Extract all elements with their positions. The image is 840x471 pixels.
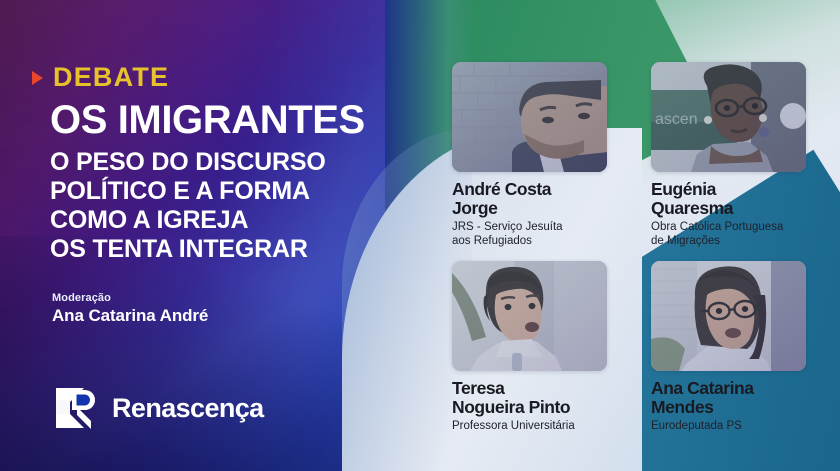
speaker-name-line: Eugénia — [651, 180, 806, 199]
photo-eugenia-quaresma: ascen — [651, 62, 806, 172]
speaker-role-line: Obra Católica Portuguesa — [651, 221, 806, 235]
speaker-role: JRS - Serviço Jesuíta aos Refugiados — [452, 221, 607, 248]
speaker-card: ascen — [651, 62, 806, 248]
photo-andre-costa-jorge — [452, 62, 607, 172]
speaker-card: Ana Catarina Mendes Eurodeputada PS — [651, 261, 806, 434]
speaker-role-line: aos Refugiados — [452, 235, 607, 249]
subtitle-line-1: O PESO DO DISCURSO — [50, 148, 326, 177]
speaker-role-line: Eurodeputada PS — [651, 420, 806, 434]
speaker-role: Eurodeputada PS — [651, 420, 806, 434]
page-title: OS IMIGRANTES — [50, 98, 365, 142]
kicker-label: DEBATE — [53, 62, 169, 93]
speaker-role: Professora Universitária — [452, 420, 607, 434]
brand-logo: Renascença — [54, 385, 264, 431]
brand-name: Renascença — [112, 393, 264, 424]
speaker-name-line: Ana Catarina — [651, 379, 806, 398]
play-triangle-icon — [32, 71, 43, 85]
speaker-role-line: Professora Universitária — [452, 420, 607, 434]
subtitle: O PESO DO DISCURSO POLÍTICO E A FORMA CO… — [50, 148, 326, 264]
headline-block: DEBATE OS IMIGRANTES O PESO DO DISCURSO … — [0, 0, 440, 471]
speaker-name-line: Nogueira Pinto — [452, 398, 607, 417]
speaker-name-line: Jorge — [452, 199, 607, 218]
subtitle-line-3: COMO A IGREJA — [50, 206, 326, 235]
photo-teresa-nogueira-pinto — [452, 261, 607, 371]
speaker-card: Teresa Nogueira Pinto Professora Univers… — [452, 261, 607, 434]
photo-ana-catarina-mendes — [651, 261, 806, 371]
speaker-name: Teresa Nogueira Pinto — [452, 379, 607, 416]
speaker-name: André Costa Jorge — [452, 180, 607, 217]
speaker-card: André Costa Jorge JRS - Serviço Jesuíta … — [452, 62, 607, 248]
speaker-role-line: JRS - Serviço Jesuíta — [452, 221, 607, 235]
speaker-name-line: André Costa — [452, 180, 607, 199]
moderation-label: Moderação — [52, 292, 208, 304]
kicker: DEBATE — [32, 62, 169, 93]
speaker-name-line: Teresa — [452, 379, 607, 398]
moderation-block: Moderação Ana Catarina André — [52, 292, 208, 326]
speaker-name-line: Mendes — [651, 398, 806, 417]
speakers-grid: André Costa Jorge JRS - Serviço Jesuíta … — [452, 62, 808, 434]
subtitle-line-4: OS TENTA INTEGRAR — [50, 235, 326, 264]
renascenca-r-logo-icon — [54, 385, 99, 431]
subtitle-line-2: POLÍTICO E A FORMA — [50, 177, 326, 206]
speaker-role-line: de Migrações — [651, 235, 806, 249]
speaker-role: Obra Católica Portuguesa de Migrações — [651, 221, 806, 248]
promo-graphic: DEBATE OS IMIGRANTES O PESO DO DISCURSO … — [0, 0, 840, 471]
speaker-name: Ana Catarina Mendes — [651, 379, 806, 416]
moderator-name: Ana Catarina André — [52, 306, 208, 326]
speaker-name-line: Quaresma — [651, 199, 806, 218]
speaker-name: Eugénia Quaresma — [651, 180, 806, 217]
